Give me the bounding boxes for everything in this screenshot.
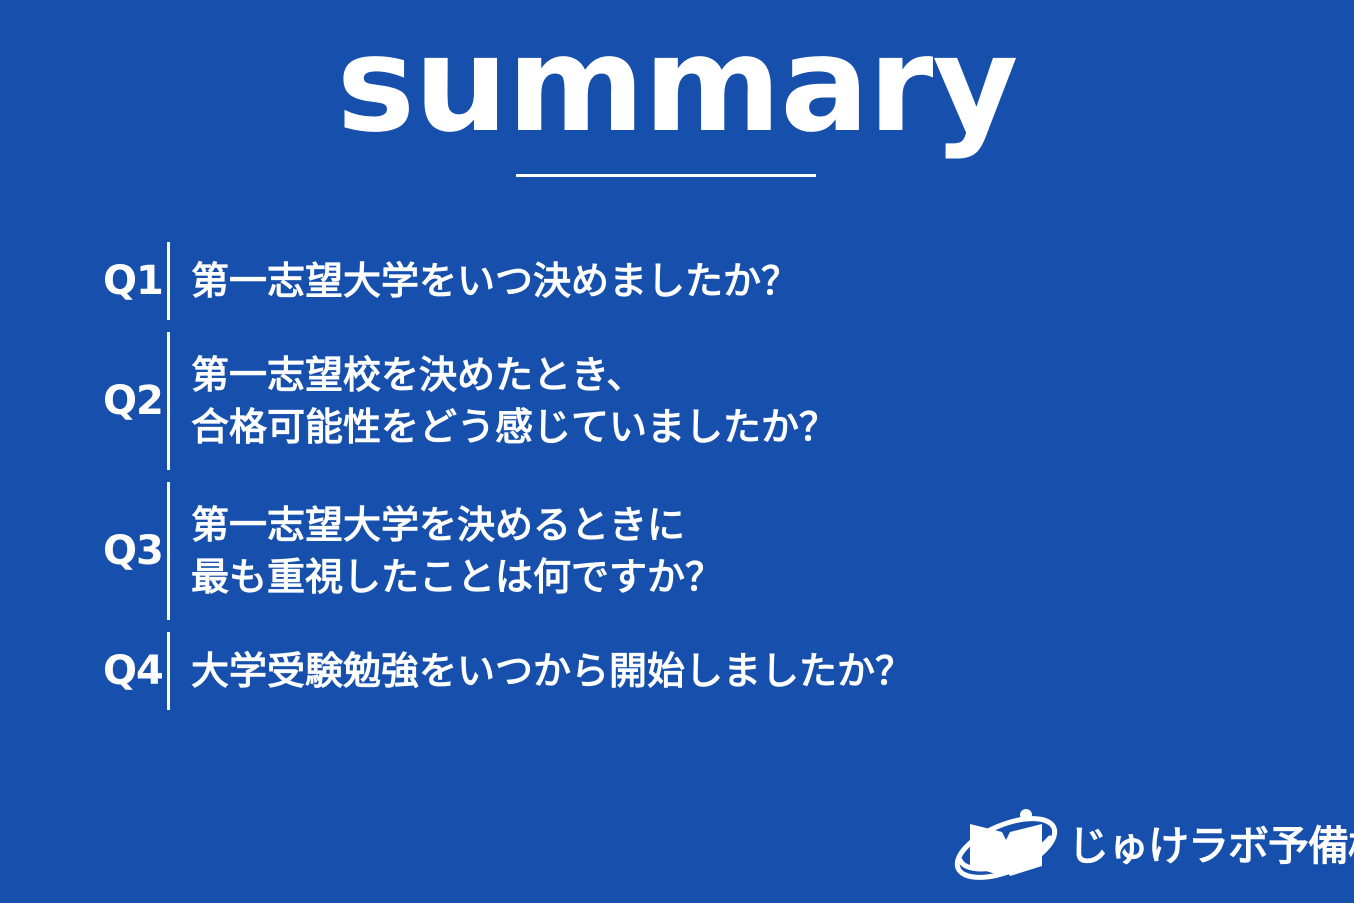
- question-row-q2: Q2 第一志望校を決めたとき、 合格可能性をどう感じていましたか？: [103, 326, 1263, 476]
- question-label-q1: Q1: [103, 261, 167, 301]
- question-text-q2: 第一志望校を決めたとき、 合格可能性をどう感じていましたか？: [170, 349, 837, 454]
- question-label-q2: Q2: [103, 381, 167, 421]
- question-label-q3: Q3: [103, 531, 167, 571]
- question-row-q3: Q3 第一志望大学を決めるときに 最も重視したことは何ですか？: [103, 476, 1263, 626]
- question-text-q4: 大学受験勉強をいつから開始しましたか？: [170, 645, 913, 697]
- title-underline-rule: [516, 174, 816, 177]
- summary-slide: summary Q1 第一志望大学をいつ決めましたか？ Q2 第一志望校を決めた…: [0, 0, 1354, 903]
- question-row-q4: Q4 大学受験勉強をいつから開始しましたか？: [103, 626, 1263, 716]
- page-title: summary: [0, 14, 1354, 157]
- question-text-q1: 第一志望大学をいつ決めましたか？: [170, 255, 799, 307]
- title-block: summary: [0, 14, 1354, 157]
- question-text-q3: 第一志望大学を決めるときに 最も重視したことは何ですか？: [170, 499, 723, 604]
- brand-name: じゅけラボ予備校: [1068, 826, 1354, 867]
- question-label-q4: Q4: [103, 651, 167, 691]
- question-list: Q1 第一志望大学をいつ決めましたか？ Q2 第一志望校を決めたとき、 合格可能…: [103, 236, 1263, 716]
- open-book-orbit-icon: [950, 806, 1062, 886]
- brand-logo: じゅけラボ予備校: [950, 800, 1330, 892]
- question-row-q1: Q1 第一志望大学をいつ決めましたか？: [103, 236, 1263, 326]
